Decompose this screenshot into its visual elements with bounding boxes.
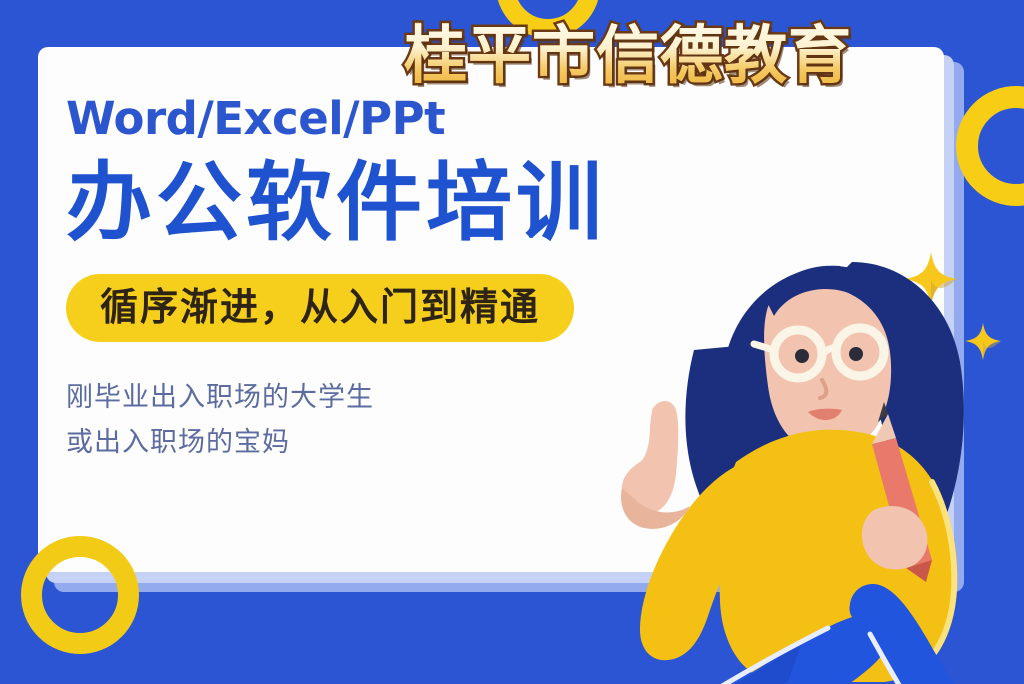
ring-right-decoration [956, 86, 1024, 206]
list-item: 或出入职场的宝妈 [66, 421, 726, 466]
watermark-outline: 桂平市信德教育 [404, 24, 852, 87]
audience-list: 刚毕业出入职场的大学生 或出入职场的宝妈 [66, 376, 726, 465]
subtitle-english: Word/Excel/PPt [66, 96, 726, 141]
text-block: Word/Excel/PPt 办公软件培训 循序渐进，从入门到精通 刚毕业出入职… [66, 96, 726, 466]
list-item: 刚毕业出入职场的大学生 [66, 376, 726, 421]
leg-right [849, 584, 998, 684]
seam-left [712, 628, 828, 684]
poster-canvas: Word/Excel/PPt 办公软件培训 循序渐进，从入门到精通 刚毕业出入职… [0, 0, 1024, 684]
page-title: 办公软件培训 [66, 159, 726, 248]
ring-bottom-left-decoration [21, 536, 139, 654]
sparkle-small [965, 323, 1001, 360]
leg-shade [700, 642, 802, 684]
seam-right [870, 634, 938, 684]
leg-left [573, 615, 888, 684]
tagline-badge: 循序渐进，从入门到精通 [66, 274, 574, 342]
